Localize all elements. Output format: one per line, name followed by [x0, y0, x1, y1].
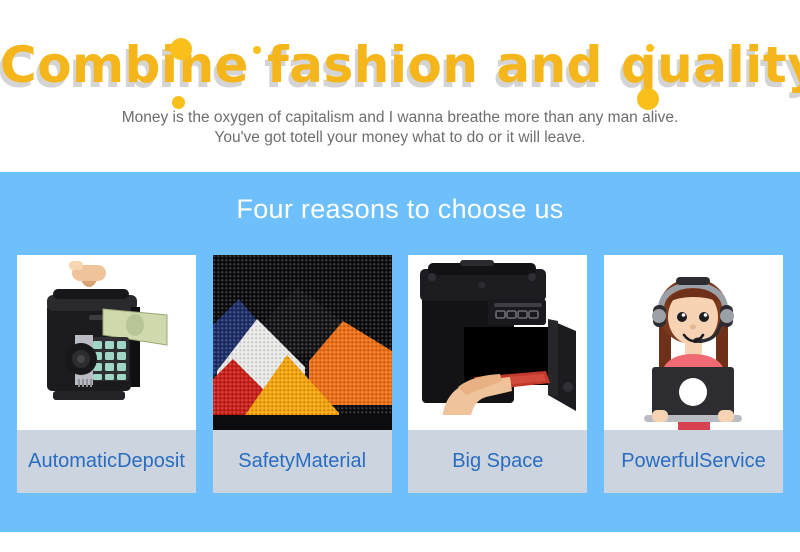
reason-card-label: Powerful Service — [604, 430, 783, 493]
subtitle-line-2: You've got totell your money what to do … — [0, 128, 800, 148]
reason-card[interactable]: Big Space — [408, 255, 587, 493]
reason-card[interactable]: Powerful Service — [604, 255, 783, 493]
reason-card[interactable]: Automatic Deposit — [17, 255, 196, 493]
reason-card-label-line-2: Service — [699, 450, 766, 473]
title-area: Combine fashion and quality — [0, 34, 800, 100]
page-title: Combine fashion and quality — [0, 34, 800, 96]
decorative-dot-icon — [253, 46, 261, 54]
panel-heading: Four reasons to choose us — [0, 194, 800, 225]
reason-card-label-line-1: Big Space — [452, 450, 543, 473]
plastic-pellets-image — [213, 255, 392, 430]
reasons-panel: Four reasons to choose us — [0, 172, 800, 532]
reason-card-label: Safety Material — [213, 430, 392, 493]
customer-service-agent-image — [604, 255, 783, 430]
decorative-dot-icon — [646, 44, 654, 52]
reason-card-label: Big Space — [408, 430, 587, 493]
footer-spacer — [0, 532, 800, 552]
decorative-dot-icon — [170, 38, 192, 60]
product-banner: Combine fashion and quality Money is the… — [0, 0, 800, 552]
reason-card-label-line-1: Automatic — [28, 450, 117, 473]
reason-card-label-line-1: Safety — [238, 450, 295, 473]
reason-card-list: Automatic Deposit — [17, 255, 783, 493]
reason-card-label-line-2: Deposit — [117, 450, 185, 473]
open-safe-image — [408, 255, 587, 430]
piggy-bank-deposit-image — [17, 255, 196, 430]
reason-card[interactable]: Safety Material — [213, 255, 392, 493]
banner-header: Combine fashion and quality Money is the… — [0, 0, 800, 172]
decorative-dot-icon — [637, 88, 659, 110]
subtitle: Money is the oxygen of capitalism and I … — [0, 108, 800, 148]
subtitle-line-1: Money is the oxygen of capitalism and I … — [0, 108, 800, 128]
reason-card-label-line-2: Material — [295, 450, 366, 473]
reason-card-label-line-1: Powerful — [621, 450, 699, 473]
reason-card-label: Automatic Deposit — [17, 430, 196, 493]
